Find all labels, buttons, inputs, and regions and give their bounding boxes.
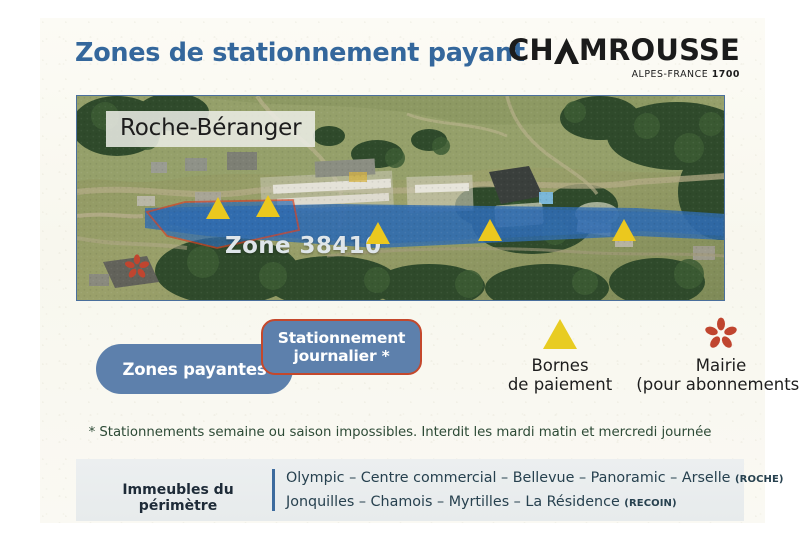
payment-pin-4[interactable] xyxy=(477,218,503,247)
buildings-band: Immeubles du périmètre Olympic – Centre … xyxy=(76,459,744,521)
payment-pin-5[interactable] xyxy=(611,218,637,247)
legend-pill-journalier-line1: Stationnement xyxy=(278,329,406,347)
band-divider xyxy=(272,469,275,511)
legend: Zones payantes Stationnement journalier … xyxy=(75,305,740,405)
chamrousse-logo: CH MROUSSE ALPES-FRANCE 1700 xyxy=(508,36,740,80)
map-area-label: Roche-Béranger xyxy=(106,111,315,147)
payment-pin-2[interactable] xyxy=(255,194,281,223)
townhall-marker-icon[interactable] xyxy=(124,254,150,285)
aerial-map[interactable]: Roche-Béranger Zone 38410 xyxy=(76,95,725,301)
logo-word-part2: MROUSSE xyxy=(579,36,740,65)
logo-tagline-text: ALPES-FRANCE xyxy=(632,69,712,80)
logo-altitude: 1700 xyxy=(712,69,740,80)
legend-pill-zones-label: Zones payantes xyxy=(123,360,267,379)
flower-icon xyxy=(631,317,800,351)
triangle-icon xyxy=(475,317,645,351)
buildings-recoin-tag: (RECOIN) xyxy=(624,498,676,509)
legend-pill-stationnement-journalier[interactable]: Stationnement journalier * xyxy=(261,319,422,375)
buildings-line-roche: Olympic – Centre commercial – Bellevue –… xyxy=(286,467,738,491)
legend-mairie-title: Mairie xyxy=(631,357,800,376)
payment-pin-1[interactable] xyxy=(205,196,231,225)
footnote: * Stationnements semaine ou saison impos… xyxy=(0,425,800,440)
buildings-recoin-text: Jonquilles – Chamois – Myrtilles – La Ré… xyxy=(286,494,620,510)
poster-page: Zones de stationnement payant CH MROUSSE… xyxy=(0,0,800,533)
payment-pin-3[interactable] xyxy=(365,221,391,250)
buildings-roche-text: Olympic – Centre commercial – Bellevue –… xyxy=(286,470,730,486)
logo-wordmark: CH MROUSSE xyxy=(508,36,740,65)
header: Zones de stationnement payant CH MROUSSE… xyxy=(75,38,740,86)
logo-word-part1: CH xyxy=(508,36,554,65)
legend-mairie-sub: (pour abonnements) xyxy=(631,376,800,395)
legend-item-bornes: Bornes de paiement xyxy=(475,317,645,395)
logo-tagline: ALPES-FRANCE 1700 xyxy=(508,69,740,80)
legend-bornes-title: Bornes xyxy=(475,357,645,376)
buildings-list: Olympic – Centre commercial – Bellevue –… xyxy=(286,467,738,515)
buildings-band-label: Immeubles du périmètre xyxy=(88,482,268,514)
buildings-line-recoin: Jonquilles – Chamois – Myrtilles – La Ré… xyxy=(286,491,738,515)
legend-bornes-sub: de paiement xyxy=(475,376,645,395)
buildings-roche-tag: (ROCHE) xyxy=(735,474,784,485)
page-title: Zones de stationnement payant xyxy=(75,38,525,68)
map-zone-label: Zone 38410 xyxy=(225,233,381,259)
legend-pill-journalier-line2: journalier * xyxy=(293,347,389,365)
mountain-icon xyxy=(554,37,579,65)
legend-item-mairie: Mairie (pour abonnements) xyxy=(631,317,800,395)
